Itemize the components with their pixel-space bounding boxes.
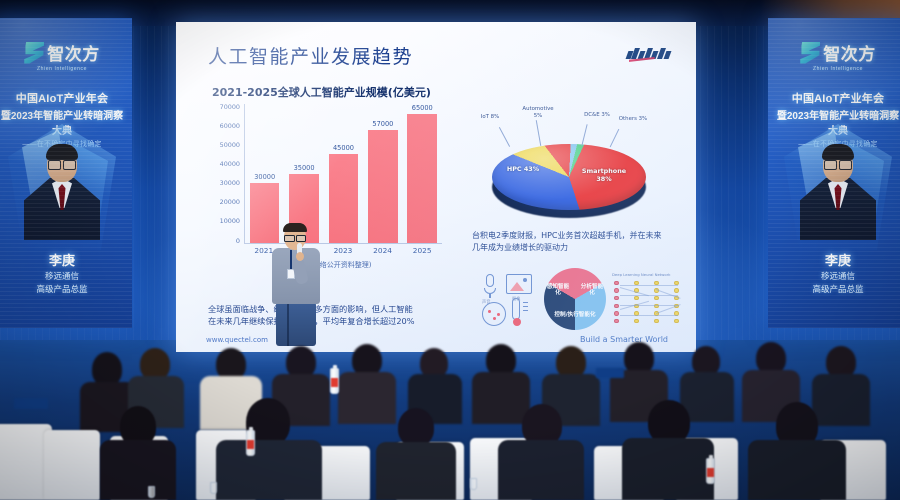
drinking-glass — [148, 486, 155, 498]
triad-segment-analysis: 分析智能化 — [580, 284, 604, 297]
slide-website: www.quectel.com — [206, 336, 268, 344]
nn-output-layer — [674, 279, 679, 325]
thermometer-icon — [512, 298, 530, 326]
image-icon — [506, 274, 532, 294]
pie-leader-line — [581, 124, 587, 146]
ytick: 20000 — [220, 199, 240, 205]
bar — [368, 130, 398, 243]
pie-slice-label-smartphone: Smartphone 38% — [580, 168, 628, 183]
bar-column: 57000 — [368, 104, 398, 243]
pie-callout-dce: DC&E 3% — [584, 112, 610, 119]
bar-chart-title: 2021-2025全球人工智能产业规模(亿美元) — [212, 84, 431, 100]
radar-icon — [482, 302, 506, 326]
bar-value-label: 30000 — [254, 173, 275, 181]
ytick: 10000 — [220, 218, 240, 224]
triad-segment-control: 控制/执行智能化 — [552, 312, 598, 318]
pie-callout-automotive: Automotive 5% — [518, 106, 558, 120]
nn-hidden-layer-2 — [654, 279, 659, 325]
bar-column: 65000 — [407, 104, 437, 243]
xtick: 2023 — [328, 246, 358, 255]
bar-chart-plot-area: 30000 35000 45000 57000 65000 — [244, 104, 442, 244]
slide-title: 人工智能产业发展趋势 — [208, 42, 413, 69]
ai-triad-diagram: 声音 图像 感知智能化 分析智能化 控制/执行智能化 Deep Learning… — [476, 268, 692, 330]
nn-layers — [612, 279, 690, 325]
nn-input-layer — [614, 279, 619, 325]
bar — [407, 114, 437, 243]
slide-pie-note: 台积电2季度财报，HPC业务首次超越手机，并在未来几年成为业绩增长的驱动力 — [472, 230, 668, 254]
pie-callout-iot: IoT 8% — [478, 114, 502, 121]
bar — [329, 154, 359, 243]
water-bottle — [246, 430, 255, 456]
bar-value-label: 45000 — [333, 144, 354, 152]
bar-chart-yaxis: 70000 60000 50000 40000 30000 20000 1000… — [196, 104, 240, 244]
nn-title: Deep Learning Neural Network — [612, 272, 690, 277]
drinking-glass — [470, 478, 477, 490]
water-bottle — [706, 458, 715, 484]
microphone-icon — [484, 274, 496, 298]
bar-value-label: 57000 — [372, 120, 393, 128]
sensor-icon-cluster: 声音 图像 — [480, 270, 540, 328]
water-bottle — [330, 368, 339, 394]
neural-network-diagram: Deep Learning Neural Network — [612, 272, 690, 326]
ytick: 0 — [236, 238, 240, 244]
xtick: 2024 — [368, 246, 398, 255]
table-name-card — [596, 368, 624, 378]
bar-value-label: 65000 — [412, 104, 433, 112]
ytick: 30000 — [220, 180, 240, 186]
pie-slice-label-hpc: HPC 43% — [506, 166, 540, 174]
sensor-label-image: 图像 — [512, 296, 520, 302]
slide-tagline: Build a Smarter World — [580, 335, 668, 344]
pie-chart: HPC 43% Smartphone 38% IoT 8% Automotive… — [472, 110, 672, 230]
table-name-card — [14, 398, 48, 409]
pie-leader-line — [536, 120, 541, 146]
left-led-banner: 智次方 Zhien Intelligence 中国AIoT产业年会 暨2023年… — [0, 18, 132, 328]
ytick: 50000 — [220, 142, 240, 148]
projection-screen: 人工智能产业发展趋势 2021-2025全球人工智能产业规模(亿美元) 7000… — [176, 22, 696, 352]
nn-hidden-layer-1 — [634, 279, 639, 325]
presenter-on-stage — [268, 224, 324, 346]
pie-leader-line — [499, 127, 510, 147]
pie-leader-line — [610, 129, 619, 147]
ytick: 70000 — [220, 104, 240, 110]
ytick: 40000 — [220, 161, 240, 167]
xtick: 2025 — [407, 246, 437, 255]
triad-pie — [544, 268, 606, 330]
bar-value-label: 35000 — [294, 164, 315, 172]
bar-column: 30000 — [250, 104, 280, 243]
triad-segment-perception: 感知智能化 — [546, 284, 570, 297]
bar-column: 45000 — [329, 104, 359, 243]
right-led-banner: 智次方 Zhien Intelligence 中国AIoT产业年会 暨2023年… — [768, 18, 900, 328]
ytick: 60000 — [220, 123, 240, 129]
presenter-glasses-icon — [284, 235, 306, 240]
quectel-logo-icon — [627, 48, 670, 59]
sensor-label-sound: 声音 — [482, 299, 490, 305]
pie-callout-others: Others 3% — [618, 116, 648, 123]
drinking-glass — [210, 482, 217, 494]
screenshot-root: 智次方 Zhien Intelligence 中国AIoT产业年会 暨2023年… — [0, 0, 900, 500]
